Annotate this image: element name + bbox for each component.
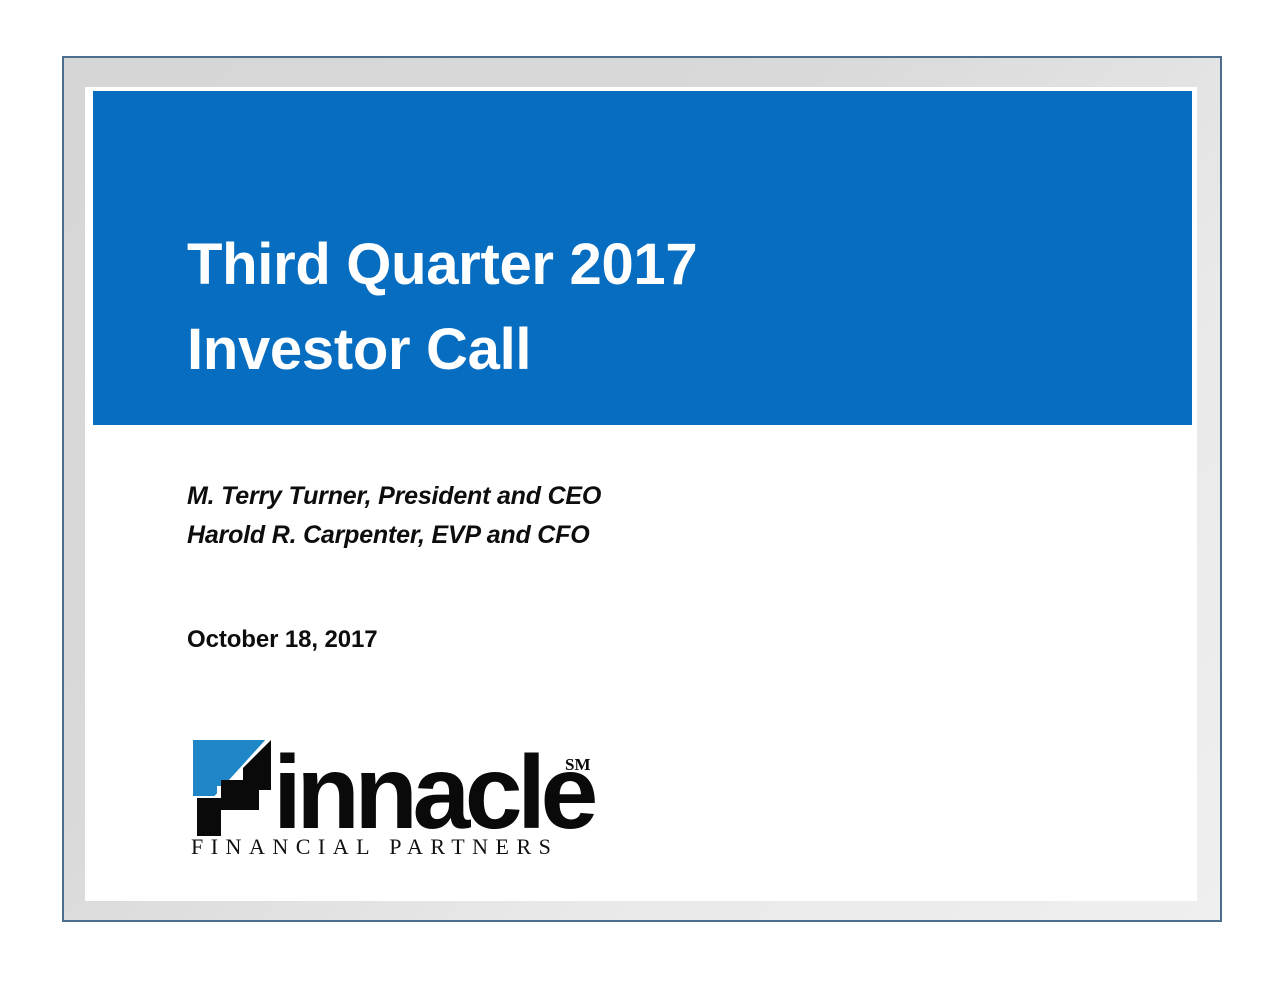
- logo-service-mark: SM: [565, 755, 591, 774]
- presenter-ceo: M. Terry Turner, President and CEO: [187, 477, 601, 516]
- logo-tagline: FINANCIAL PARTNERS: [191, 834, 558, 859]
- title-banner: Third Quarter 2017 Investor Call: [93, 91, 1192, 425]
- page-title: Third Quarter 2017 Investor Call: [187, 222, 697, 392]
- document-frame: Third Quarter 2017 Investor Call M. Terr…: [62, 56, 1222, 922]
- presentation-date: October 18, 2017: [187, 626, 378, 654]
- slide-canvas: Third Quarter 2017 Investor Call M. Terr…: [85, 87, 1197, 901]
- pinnacle-logo: innacle SM FINANCIAL PARTNERS: [187, 728, 607, 860]
- presenter-list: M. Terry Turner, President and CEO Harol…: [187, 477, 601, 555]
- presenter-cfo: Harold R. Carpenter, EVP and CFO: [187, 516, 601, 555]
